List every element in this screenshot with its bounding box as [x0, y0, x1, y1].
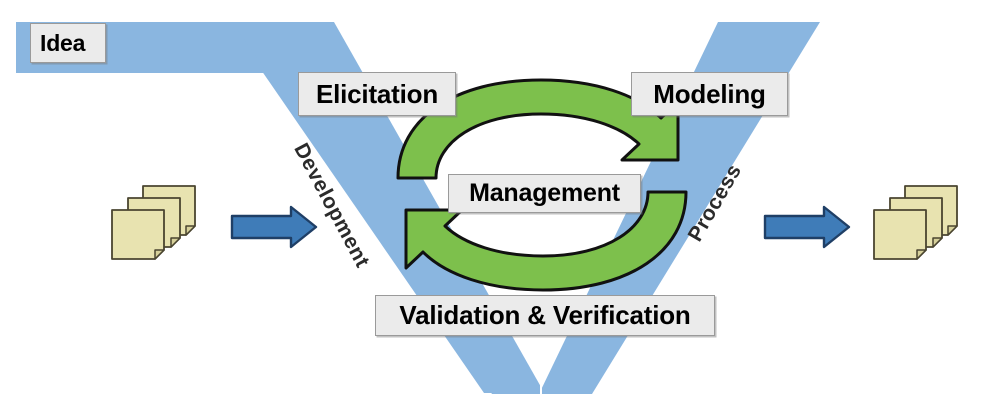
- stage-label-management[interactable]: Management: [448, 174, 641, 213]
- stage-label-modeling[interactable]: Modeling: [631, 72, 788, 116]
- diagram-canvas: Idea Elicitation Modeling Management Val…: [0, 0, 982, 416]
- input-arrow-right-icon: [232, 207, 316, 247]
- stage-label-idea[interactable]: Idea: [30, 23, 106, 63]
- stage-label-validation-verification[interactable]: Validation & Verification: [375, 295, 715, 336]
- output-arrow-right-icon: [765, 207, 849, 247]
- stage-label-elicitation[interactable]: Elicitation: [298, 72, 456, 116]
- output-document-stack-icon: [874, 186, 957, 259]
- input-document-stack-icon: [112, 186, 195, 259]
